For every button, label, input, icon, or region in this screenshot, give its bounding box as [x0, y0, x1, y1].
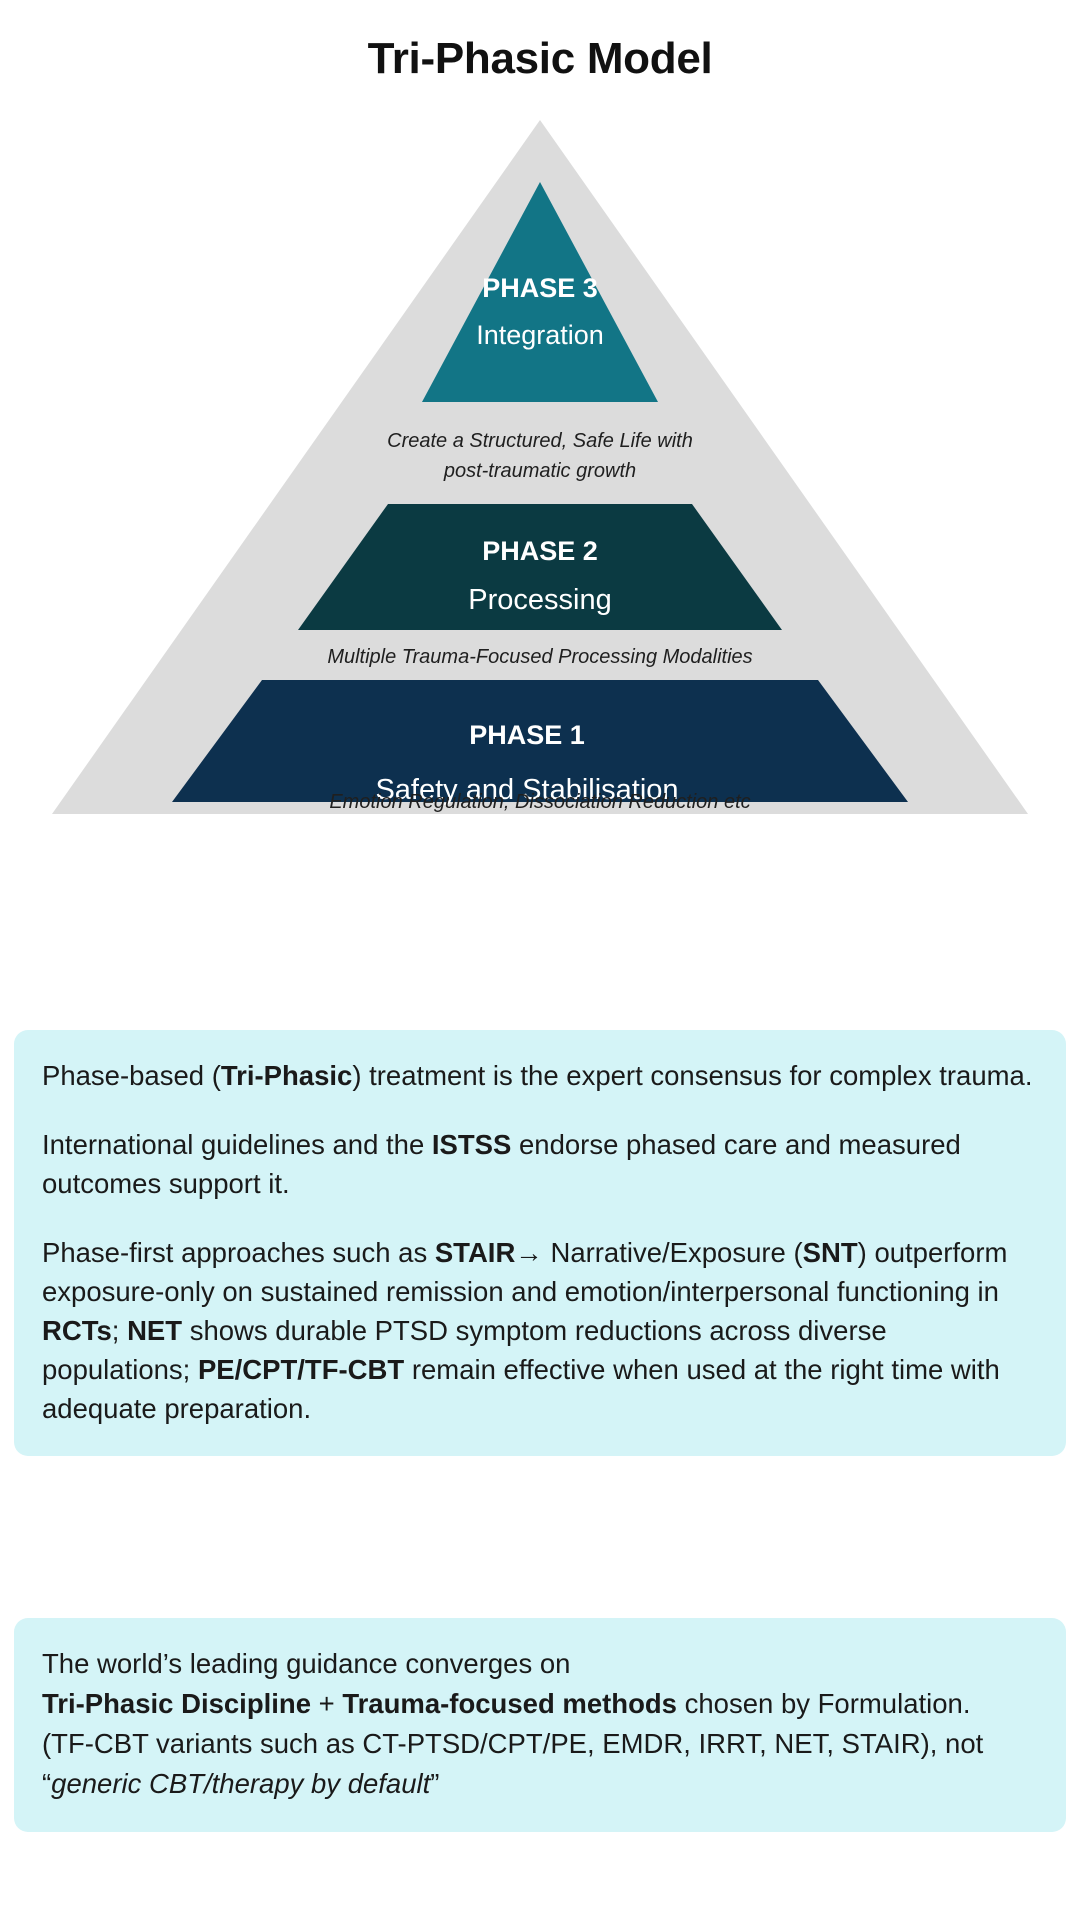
phase-1-caption: Emotion Regulation, Dissociation Reducti… — [329, 791, 750, 813]
pyramid-diagram: PHASE 3 Integration Create a Structured,… — [40, 112, 1040, 822]
phase-3-label: PHASE 3 — [482, 273, 598, 303]
page-title: Tri-Phasic Model — [0, 34, 1080, 84]
evidence-paragraph-3: Phase-first approaches such as STAIR→ Na… — [42, 1233, 1038, 1428]
evidence-paragraph-1: Phase-based (Tri-Phasic) treatment is th… — [42, 1056, 1038, 1095]
pyramid-svg: PHASE 3 Integration Create a Structured,… — [40, 112, 1040, 822]
phase-2-label: PHASE 2 — [482, 536, 598, 566]
convergence-card: The world’s leading guidance converges o… — [14, 1618, 1066, 1832]
phase-2-name: Processing — [468, 584, 611, 616]
evidence-paragraph-2: International guidelines and the ISTSS e… — [42, 1125, 1038, 1203]
phase-2-caption: Multiple Trauma-Focused Processing Modal… — [327, 646, 752, 668]
phase-3-name: Integration — [476, 320, 604, 350]
phase-3-caption-line1: Create a Structured, Safe Life with — [387, 430, 693, 452]
evidence-card: Phase-based (Tri-Phasic) treatment is th… — [14, 1030, 1066, 1456]
phase-3-caption-line2: post-traumatic growth — [443, 460, 636, 482]
phase-1-label: PHASE 1 — [469, 720, 585, 750]
tri-phasic-model-page: Tri-Phasic Model PHASE 3 Integration Cre… — [0, 0, 1080, 1920]
phase-1-caption-svg: Emotion Regulation, Dissociation Reducti… — [40, 778, 1040, 822]
convergence-paragraph-1: The world’s leading guidance converges o… — [42, 1644, 1038, 1804]
